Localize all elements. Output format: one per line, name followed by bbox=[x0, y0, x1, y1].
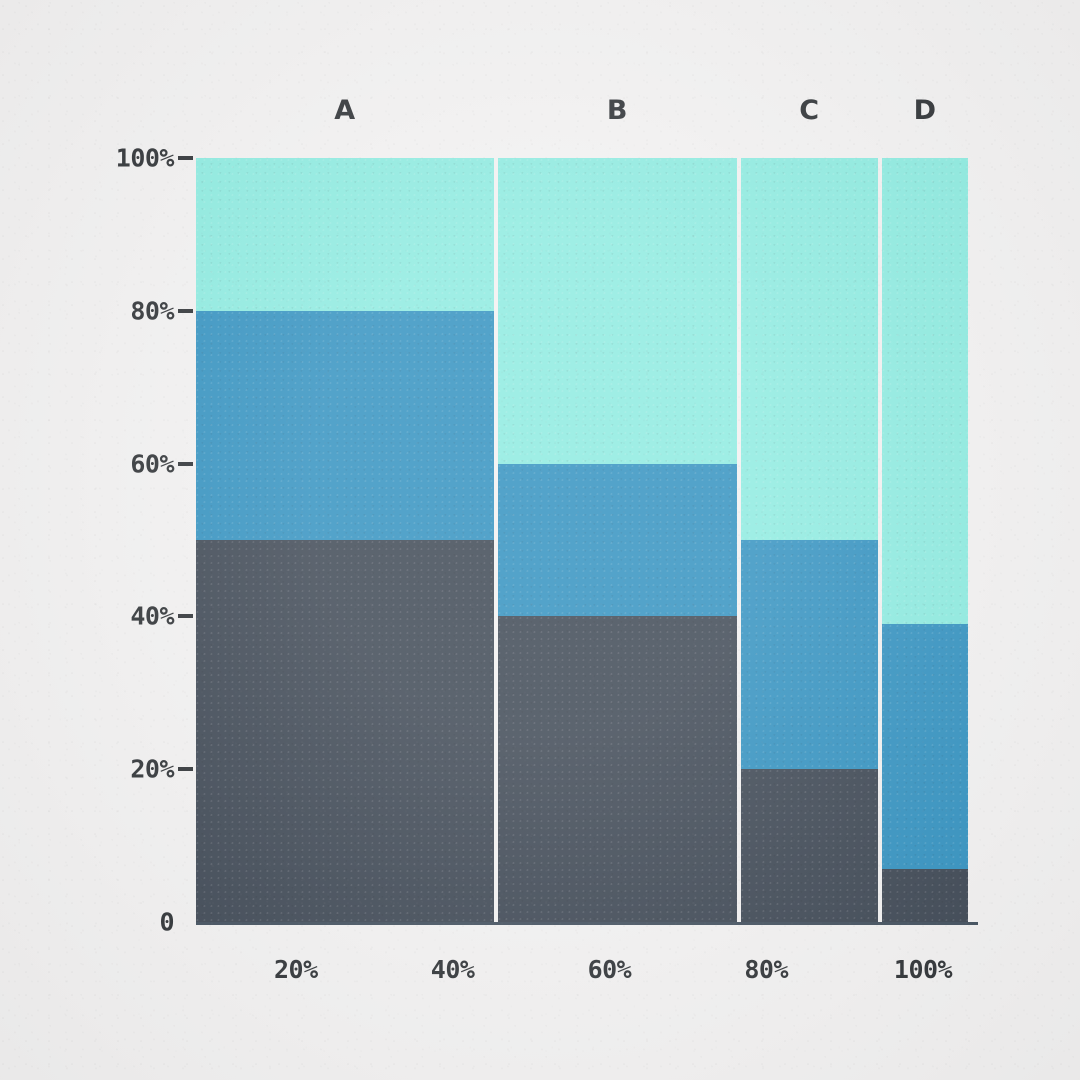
x-axis-tick-label: 20% bbox=[274, 955, 318, 984]
y-axis-tick-mark bbox=[178, 309, 193, 313]
mosaic-column-c[interactable] bbox=[741, 158, 878, 922]
mosaic-segment-b-middle[interactable] bbox=[498, 464, 737, 617]
mosaic-segment-c-bottom[interactable] bbox=[741, 769, 878, 922]
y-axis-tick-label: 20% bbox=[130, 755, 174, 784]
mosaic-column-d[interactable] bbox=[882, 158, 968, 922]
segment-grain bbox=[196, 158, 494, 311]
y-axis-tick-mark bbox=[178, 156, 193, 160]
mosaic-segment-d-bottom[interactable] bbox=[882, 869, 968, 922]
segment-grain bbox=[498, 158, 737, 464]
mosaic-segment-d-top[interactable] bbox=[882, 158, 968, 624]
segment-grain bbox=[882, 624, 968, 868]
segment-grain bbox=[882, 158, 968, 624]
mosaic-chart: ABCD 100%80%60%40%20%0 20%40%60%80%100% bbox=[0, 0, 1080, 1080]
y-axis-tick-label: 0 bbox=[159, 908, 174, 937]
segment-grain bbox=[741, 540, 878, 769]
mosaic-segment-a-middle[interactable] bbox=[196, 311, 494, 540]
mosaic-segment-a-bottom[interactable] bbox=[196, 540, 494, 922]
segment-grain bbox=[196, 540, 494, 922]
x-axis-tick-label: 40% bbox=[431, 955, 475, 984]
y-axis-tick-mark bbox=[178, 462, 193, 466]
mosaic-segment-d-middle[interactable] bbox=[882, 624, 968, 868]
y-axis-tick-label: 100% bbox=[116, 144, 174, 173]
column-header-b: B bbox=[607, 95, 628, 126]
y-axis-tick-label: 60% bbox=[130, 449, 174, 478]
segment-grain bbox=[196, 311, 494, 540]
y-axis-tick-label: 40% bbox=[130, 602, 174, 631]
segment-grain bbox=[498, 464, 737, 617]
column-header-a: A bbox=[334, 95, 355, 126]
mosaic-column-b[interactable] bbox=[498, 158, 737, 922]
mosaic-segment-a-top[interactable] bbox=[196, 158, 494, 311]
y-axis-tick-mark bbox=[178, 767, 193, 771]
x-axis-tick-label: 60% bbox=[588, 955, 632, 984]
column-header-d: D bbox=[914, 95, 937, 126]
y-axis-tick-mark bbox=[178, 614, 193, 618]
x-axis-tick-label: 80% bbox=[744, 955, 788, 984]
mosaic-segment-c-middle[interactable] bbox=[741, 540, 878, 769]
segment-grain bbox=[741, 769, 878, 922]
x-axis-baseline bbox=[196, 922, 978, 925]
segment-grain bbox=[882, 869, 968, 922]
mosaic-segment-b-bottom[interactable] bbox=[498, 616, 737, 922]
mosaic-segment-b-top[interactable] bbox=[498, 158, 737, 464]
y-axis-tick-label: 80% bbox=[130, 296, 174, 325]
segment-grain bbox=[498, 616, 737, 922]
column-header-c: C bbox=[799, 95, 819, 126]
segment-grain bbox=[741, 158, 878, 540]
x-axis-tick-label: 100% bbox=[894, 955, 952, 984]
mosaic-column-a[interactable] bbox=[196, 158, 494, 922]
mosaic-segment-c-top[interactable] bbox=[741, 158, 878, 540]
